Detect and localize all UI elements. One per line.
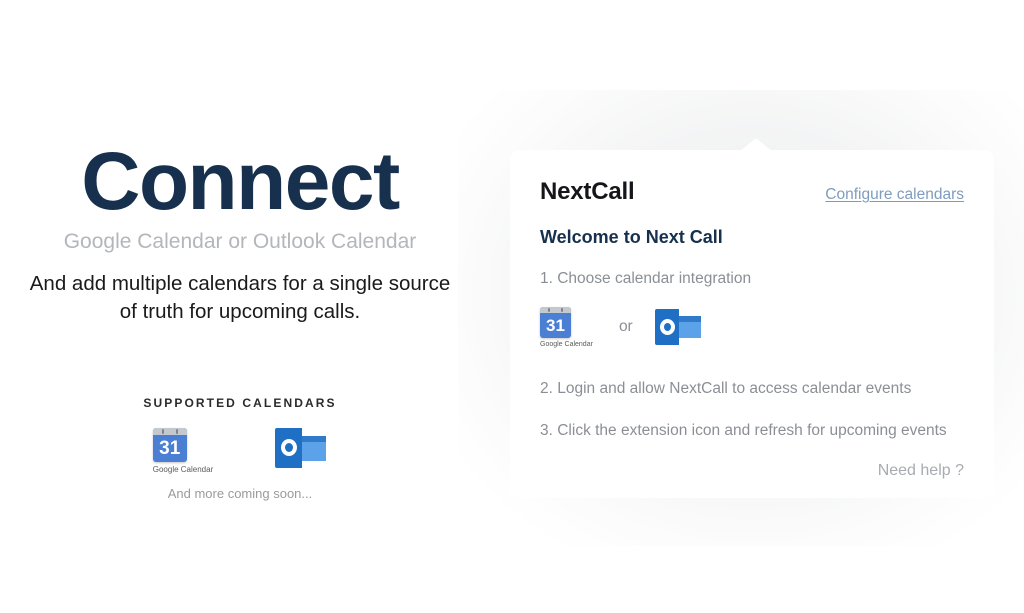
google-calendar-day-number: 31 bbox=[540, 314, 571, 337]
step-1-label: 1. Choose calendar integration bbox=[540, 270, 964, 288]
google-calendar-caption: Google Calendar bbox=[540, 341, 593, 348]
calendar-choice-row: 31 Google Calendar or bbox=[540, 300, 964, 354]
promo-column: Connect Google Calendar or Outlook Calen… bbox=[0, 0, 480, 613]
more-coming-soon-label: And more coming soon... bbox=[0, 486, 480, 501]
google-calendar-caption: Google Calendar bbox=[153, 465, 213, 474]
supported-calendars-section: SUPPORTED CALENDARS 31 Google Calendar bbox=[0, 396, 480, 501]
supported-calendars-icons: 31 Google Calendar bbox=[0, 428, 480, 474]
page-title: Connect bbox=[0, 136, 480, 228]
google-calendar-icon[interactable]: 31 Google Calendar bbox=[540, 307, 593, 348]
popup-header: NextCall Configure calendars bbox=[540, 178, 964, 206]
promo-subtitle: Google Calendar or Outlook Calendar bbox=[0, 228, 480, 255]
step-2-label: 2. Login and allow NextCall to access ca… bbox=[540, 380, 964, 398]
outlook-calendar-icon bbox=[275, 428, 327, 468]
popup-brand-title: NextCall bbox=[540, 178, 634, 206]
step-3-label: 3. Click the extension icon and refresh … bbox=[540, 422, 964, 440]
or-separator-label: or bbox=[619, 318, 633, 336]
supported-calendars-label: SUPPORTED CALENDARS bbox=[0, 396, 480, 410]
configure-calendars-link[interactable]: Configure calendars bbox=[825, 186, 964, 204]
google-calendar-icon: 31 Google Calendar bbox=[153, 428, 213, 474]
popup-welcome-heading: Welcome to Next Call bbox=[540, 227, 964, 248]
promo-description: And add multiple calendars for a single … bbox=[20, 270, 460, 326]
extension-popup: NextCall Configure calendars Welcome to … bbox=[510, 150, 994, 498]
outlook-calendar-icon[interactable] bbox=[655, 309, 702, 345]
need-help-link[interactable]: Need help ? bbox=[878, 462, 964, 480]
google-calendar-day-number: 31 bbox=[153, 436, 187, 461]
